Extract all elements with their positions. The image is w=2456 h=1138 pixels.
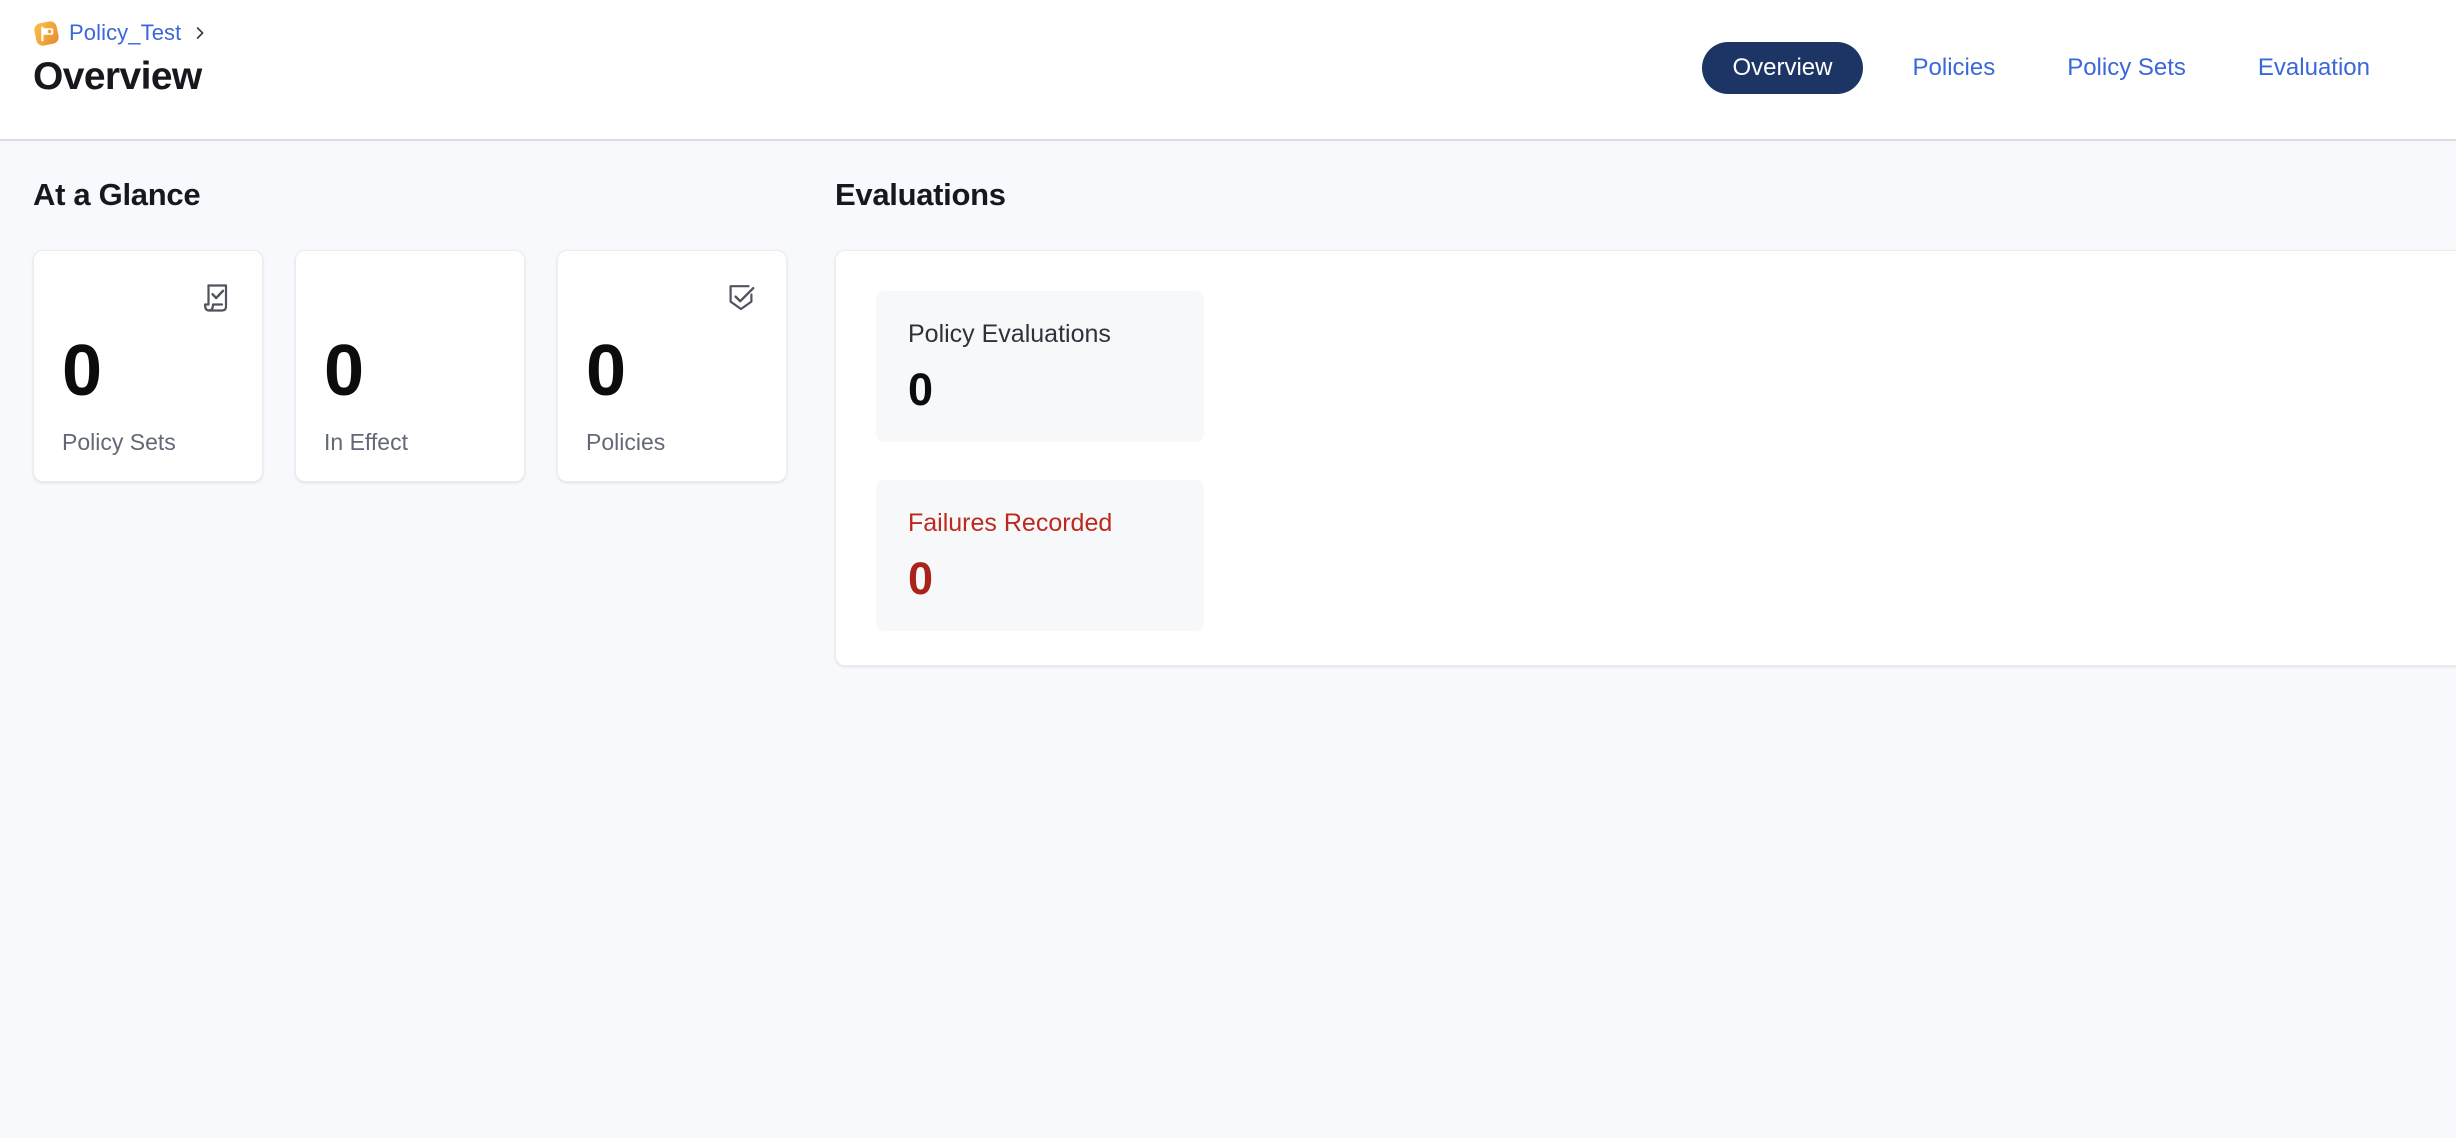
stat-card-policies[interactable]: 0 Policies (557, 250, 787, 482)
stat-label: In Effect (324, 429, 496, 457)
breadcrumb: Policy_Test (33, 18, 208, 48)
eval-tile-value: 0 (908, 556, 1172, 601)
stat-label: Policy Sets (62, 429, 234, 457)
breadcrumb-link-policy-test[interactable]: Policy_Test (69, 22, 181, 44)
evaluations-section: Evaluations Policy Evaluations 0 Failure… (835, 141, 2456, 1138)
eval-tile-value: 0 (908, 367, 1172, 412)
tab-overview[interactable]: Overview (1702, 42, 1862, 94)
stat-label: Policies (586, 429, 758, 457)
at-a-glance-section: At a Glance 0 Policy Sets 0 In Effect (0, 141, 835, 1138)
eval-tile-label: Policy Evaluations (908, 319, 1172, 349)
policy-brand-icon (33, 20, 60, 47)
eval-tile-label: Failures Recorded (908, 508, 1172, 538)
stat-value: 0 (586, 335, 758, 407)
main-content: At a Glance 0 Policy Sets 0 In Effect (0, 141, 2456, 1138)
evaluations-panel: Policy Evaluations 0 Failures Recorded 0 (835, 250, 2456, 666)
primary-nav: Overview Policies Policy Sets Evaluation (1702, 0, 2406, 94)
stat-card-policy-sets[interactable]: 0 Policy Sets (33, 250, 263, 482)
app-header: Policy_Test Overview Overview Policies P… (0, 0, 2456, 141)
shield-check-icon (722, 279, 760, 317)
at-a-glance-title: At a Glance (33, 178, 835, 212)
eval-tile-failures-recorded[interactable]: Failures Recorded 0 (876, 480, 1204, 631)
stat-card-in-effect[interactable]: 0 In Effect (295, 250, 525, 482)
evaluations-title: Evaluations (835, 178, 2456, 212)
stat-value: 0 (62, 335, 234, 407)
eval-tile-policy-evaluations[interactable]: Policy Evaluations 0 (876, 291, 1204, 442)
tab-policy-sets[interactable]: Policy Sets (2031, 56, 2222, 80)
stat-card-list: 0 Policy Sets 0 In Effect 0 Policies (33, 250, 835, 482)
tab-policies[interactable]: Policies (1877, 56, 2032, 80)
tab-evaluation[interactable]: Evaluation (2222, 56, 2406, 80)
stat-value: 0 (324, 335, 496, 407)
chevron-right-icon (192, 25, 208, 41)
header-left: Policy_Test Overview (33, 0, 208, 99)
document-check-icon (198, 279, 236, 317)
page-title: Overview (33, 56, 208, 99)
